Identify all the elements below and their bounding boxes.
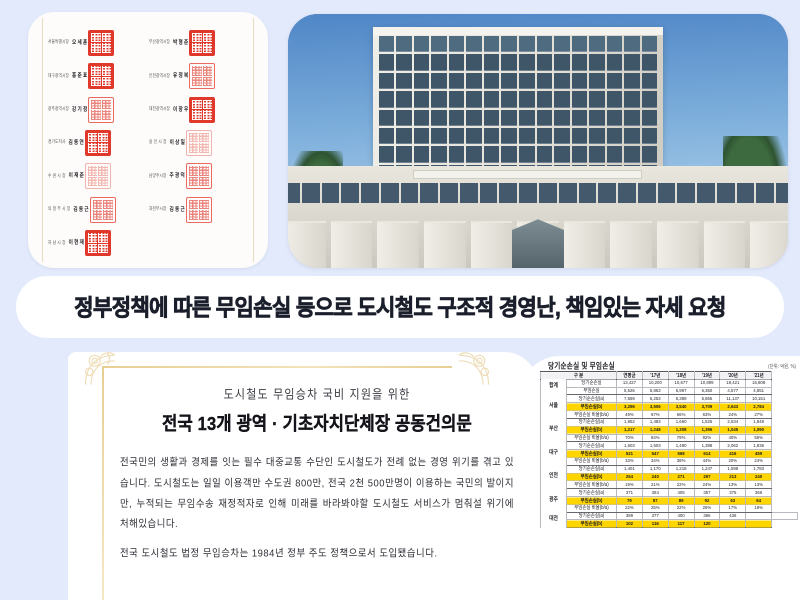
petition-document: 도시철도 무임승차 국비 지원을 위한 전국 13개 광역 · 기초자치단체장 … bbox=[68, 352, 538, 600]
table-unit-note: (단위: 억원, %) bbox=[768, 363, 796, 370]
signatory-name: 주 광 덕 bbox=[170, 173, 185, 180]
gold-border-left bbox=[102, 366, 104, 600]
signatory-title: 남양주시장 bbox=[149, 173, 167, 179]
table-value-cell bbox=[746, 519, 772, 528]
signature-seal-document: 서울특별시장오 세 훈부산광역시장박 형 준대구광역시장홍 준 표인천광역시장유… bbox=[28, 12, 268, 268]
signatory-title: 수 원 시 장 bbox=[48, 173, 66, 179]
table-title: 당기순손실 및 무임손실 bbox=[548, 359, 615, 371]
signatory-name: 김 동 연 bbox=[69, 139, 84, 146]
signatory-name: 강 기 정 bbox=[72, 106, 87, 113]
signature-entry: 대구광역시장홍 준 표 bbox=[48, 59, 149, 92]
table-row: 무임손실(b)3,2963,5063,5403,7092,6432,784 bbox=[541, 403, 798, 411]
table-row: 무임손실(b)102116117120 bbox=[541, 520, 798, 528]
signature-entry: 과천부시장김 동 근 bbox=[149, 193, 250, 226]
table-region-cell: 광주 bbox=[541, 487, 567, 514]
official-seal-icon bbox=[186, 163, 212, 189]
signature-entry: 남양주시장주 광 덕 bbox=[149, 160, 250, 193]
signature-entry: 서울특별시장오 세 훈 bbox=[48, 26, 149, 59]
signatory-name: 이 현 재 bbox=[69, 240, 84, 247]
petition-paragraph-2: 전국 도시철도 법정 무임승차는 1984년 정부 주도 정책으로서 도입됐습니… bbox=[120, 543, 514, 564]
signatory-title: 광주광역시장 bbox=[48, 106, 69, 112]
window-row bbox=[379, 128, 657, 144]
signature-entry: 대전광역시장이 장 우 bbox=[149, 93, 250, 126]
signatory-name: 오 세 훈 bbox=[72, 39, 87, 46]
signature-entry: 인천광역시장유 정 복 bbox=[149, 59, 250, 92]
official-seal-icon bbox=[88, 30, 114, 56]
signature-entry: 부산광역시장박 형 준 bbox=[149, 26, 250, 59]
signatory-name: 이 재 준 bbox=[69, 173, 84, 180]
loss-data-table: 구 분연평균'17년'18년'19년'20년'21년 합계당기순손실13,427… bbox=[540, 371, 798, 528]
official-seal-icon bbox=[88, 97, 114, 123]
signatory-title: 서울특별시장 bbox=[48, 40, 69, 46]
official-seal-icon bbox=[186, 130, 212, 156]
signatory-title: 하 남 시 장 bbox=[48, 240, 66, 246]
headline-text: 정부정책에 따른 무임손실 등으로 도시철도 구조적 경영난, 책임있는 자세 … bbox=[74, 291, 725, 323]
signatory-title: 과천부시장 bbox=[149, 207, 167, 213]
gold-border-top bbox=[102, 366, 452, 368]
signatory-name: 이 상 일 bbox=[170, 139, 185, 146]
signatory-title: 인천광역시장 bbox=[149, 73, 170, 79]
signatory-name: 홍 준 표 bbox=[72, 73, 87, 80]
table-value-cell: 117 bbox=[668, 519, 694, 528]
official-seal-icon bbox=[85, 130, 111, 156]
signatory-title: 경기도지사 bbox=[48, 140, 66, 146]
table-value-cell: 120 bbox=[694, 519, 720, 528]
signatory-title: 용 인 시 장 bbox=[149, 140, 167, 146]
window-row bbox=[379, 91, 657, 107]
signatory-title: 대전광역시장 bbox=[149, 106, 170, 112]
table-value-cell: 102 bbox=[617, 519, 643, 528]
poster-canvas: 서울특별시장오 세 훈부산광역시장박 형 준대구광역시장홍 준 표인천광역시장유… bbox=[0, 0, 800, 600]
official-seal-icon bbox=[85, 230, 111, 256]
official-seal-icon bbox=[189, 97, 215, 123]
doc-rule-left bbox=[42, 18, 43, 262]
facade-banner bbox=[413, 170, 642, 178]
table-body: 합계당기순손실13,42710,20010,67710,89918,42116,… bbox=[541, 379, 798, 527]
signature-entry: 의 정 부 시 장김 동 근 bbox=[48, 193, 149, 226]
table-value-cell bbox=[720, 519, 746, 528]
financial-table-card: 당기순손실 및 무임손실 (단위: 억원, %) 구 분연평균'17년'18년'… bbox=[520, 356, 800, 600]
government-building-photo bbox=[288, 14, 788, 268]
table-region-cell: 대전 bbox=[541, 511, 567, 529]
signature-grid: 서울특별시장오 세 훈부산광역시장박 형 준대구광역시장홍 준 표인천광역시장유… bbox=[48, 26, 250, 260]
window-row bbox=[379, 54, 657, 70]
signature-entry: 용 인 시 장이 상 일 bbox=[149, 126, 250, 159]
table-header-row: 당기순손실 및 무임손실 (단위: 억원, %) bbox=[548, 360, 796, 370]
petition-title: 전국 13개 광역 · 기초자치단체장 공동건의문 bbox=[120, 409, 514, 436]
podium-window-band bbox=[288, 183, 788, 203]
official-seal-icon bbox=[88, 63, 114, 89]
signature-entry: 하 남 시 장이 현 재 bbox=[48, 227, 149, 260]
headline-banner: 정부정책에 따른 무임손실 등으로 도시철도 구조적 경영난, 책임있는 자세 … bbox=[16, 276, 784, 338]
petition-subtitle: 도시철도 무임승차 국비 지원을 위한 bbox=[120, 385, 514, 403]
official-seal-icon bbox=[85, 163, 111, 189]
official-seal-icon bbox=[189, 63, 215, 89]
official-seal-icon bbox=[189, 30, 215, 56]
signatory-name: 유 정 복 bbox=[173, 73, 188, 80]
signature-entry: 광주광역시장강 기 정 bbox=[48, 93, 149, 126]
signatory-title: 의 정 부 시 장 bbox=[48, 207, 70, 213]
table-value-cell: 116 bbox=[642, 519, 668, 528]
window-row bbox=[379, 36, 657, 52]
roof-cap bbox=[373, 27, 663, 35]
signature-entry: 경기도지사김 동 연 bbox=[48, 126, 149, 159]
official-seal-icon bbox=[90, 197, 116, 223]
signatory-title: 대구광역시장 bbox=[48, 73, 69, 79]
signatory-title: 부산광역시장 bbox=[149, 40, 170, 46]
window-row bbox=[379, 73, 657, 89]
petition-paragraph-1: 전국민의 생활과 경제를 잇는 필수 대중교통 수단인 도시철도가 전례 없는 … bbox=[120, 452, 514, 535]
flourish-ornament-icon bbox=[80, 352, 124, 392]
signatory-name: 김 동 근 bbox=[73, 206, 88, 213]
signatory-name: 박 형 준 bbox=[173, 39, 188, 46]
petition-body: 도시철도 무임승차 국비 지원을 위한 전국 13개 광역 · 기초자치단체장 … bbox=[120, 372, 514, 594]
doc-rule-right bbox=[253, 18, 254, 262]
signatory-name: 이 장 우 bbox=[173, 106, 188, 113]
table-value-cell bbox=[772, 512, 798, 521]
building-podium bbox=[288, 166, 788, 268]
window-row bbox=[379, 110, 657, 126]
official-seal-icon bbox=[186, 197, 212, 223]
signature-entry: 수 원 시 장이 재 준 bbox=[48, 160, 149, 193]
signatory-name: 김 동 근 bbox=[170, 206, 185, 213]
table-row: 광주당기순손실(a)371354405357375366 bbox=[541, 489, 798, 497]
table-row-label: 무임손실(b) bbox=[567, 519, 617, 528]
